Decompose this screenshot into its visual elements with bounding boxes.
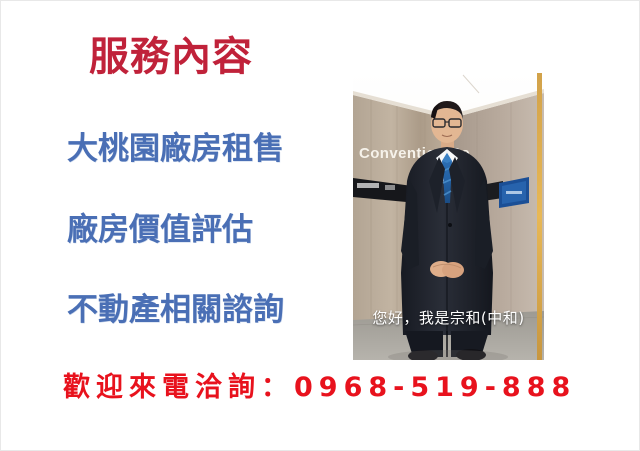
page-title: 服務內容 [89,35,253,79]
service-item-1: 大桃園廠房租售 [67,132,284,166]
presentation-slide: 服務內容 大桃園廠房租售 廠房價值評估 不動產相關諮詢 歡迎來電洽詢：0968-… [0,0,640,451]
contact-phone-line: 歡迎來電洽詢：0968-519-888 [63,373,576,403]
photo-caption: 您好，我是宗和(中和) [353,307,544,328]
service-item-3: 不動產相關諮詢 [67,293,284,327]
service-item-2: 廠房價值評估 [67,213,253,247]
